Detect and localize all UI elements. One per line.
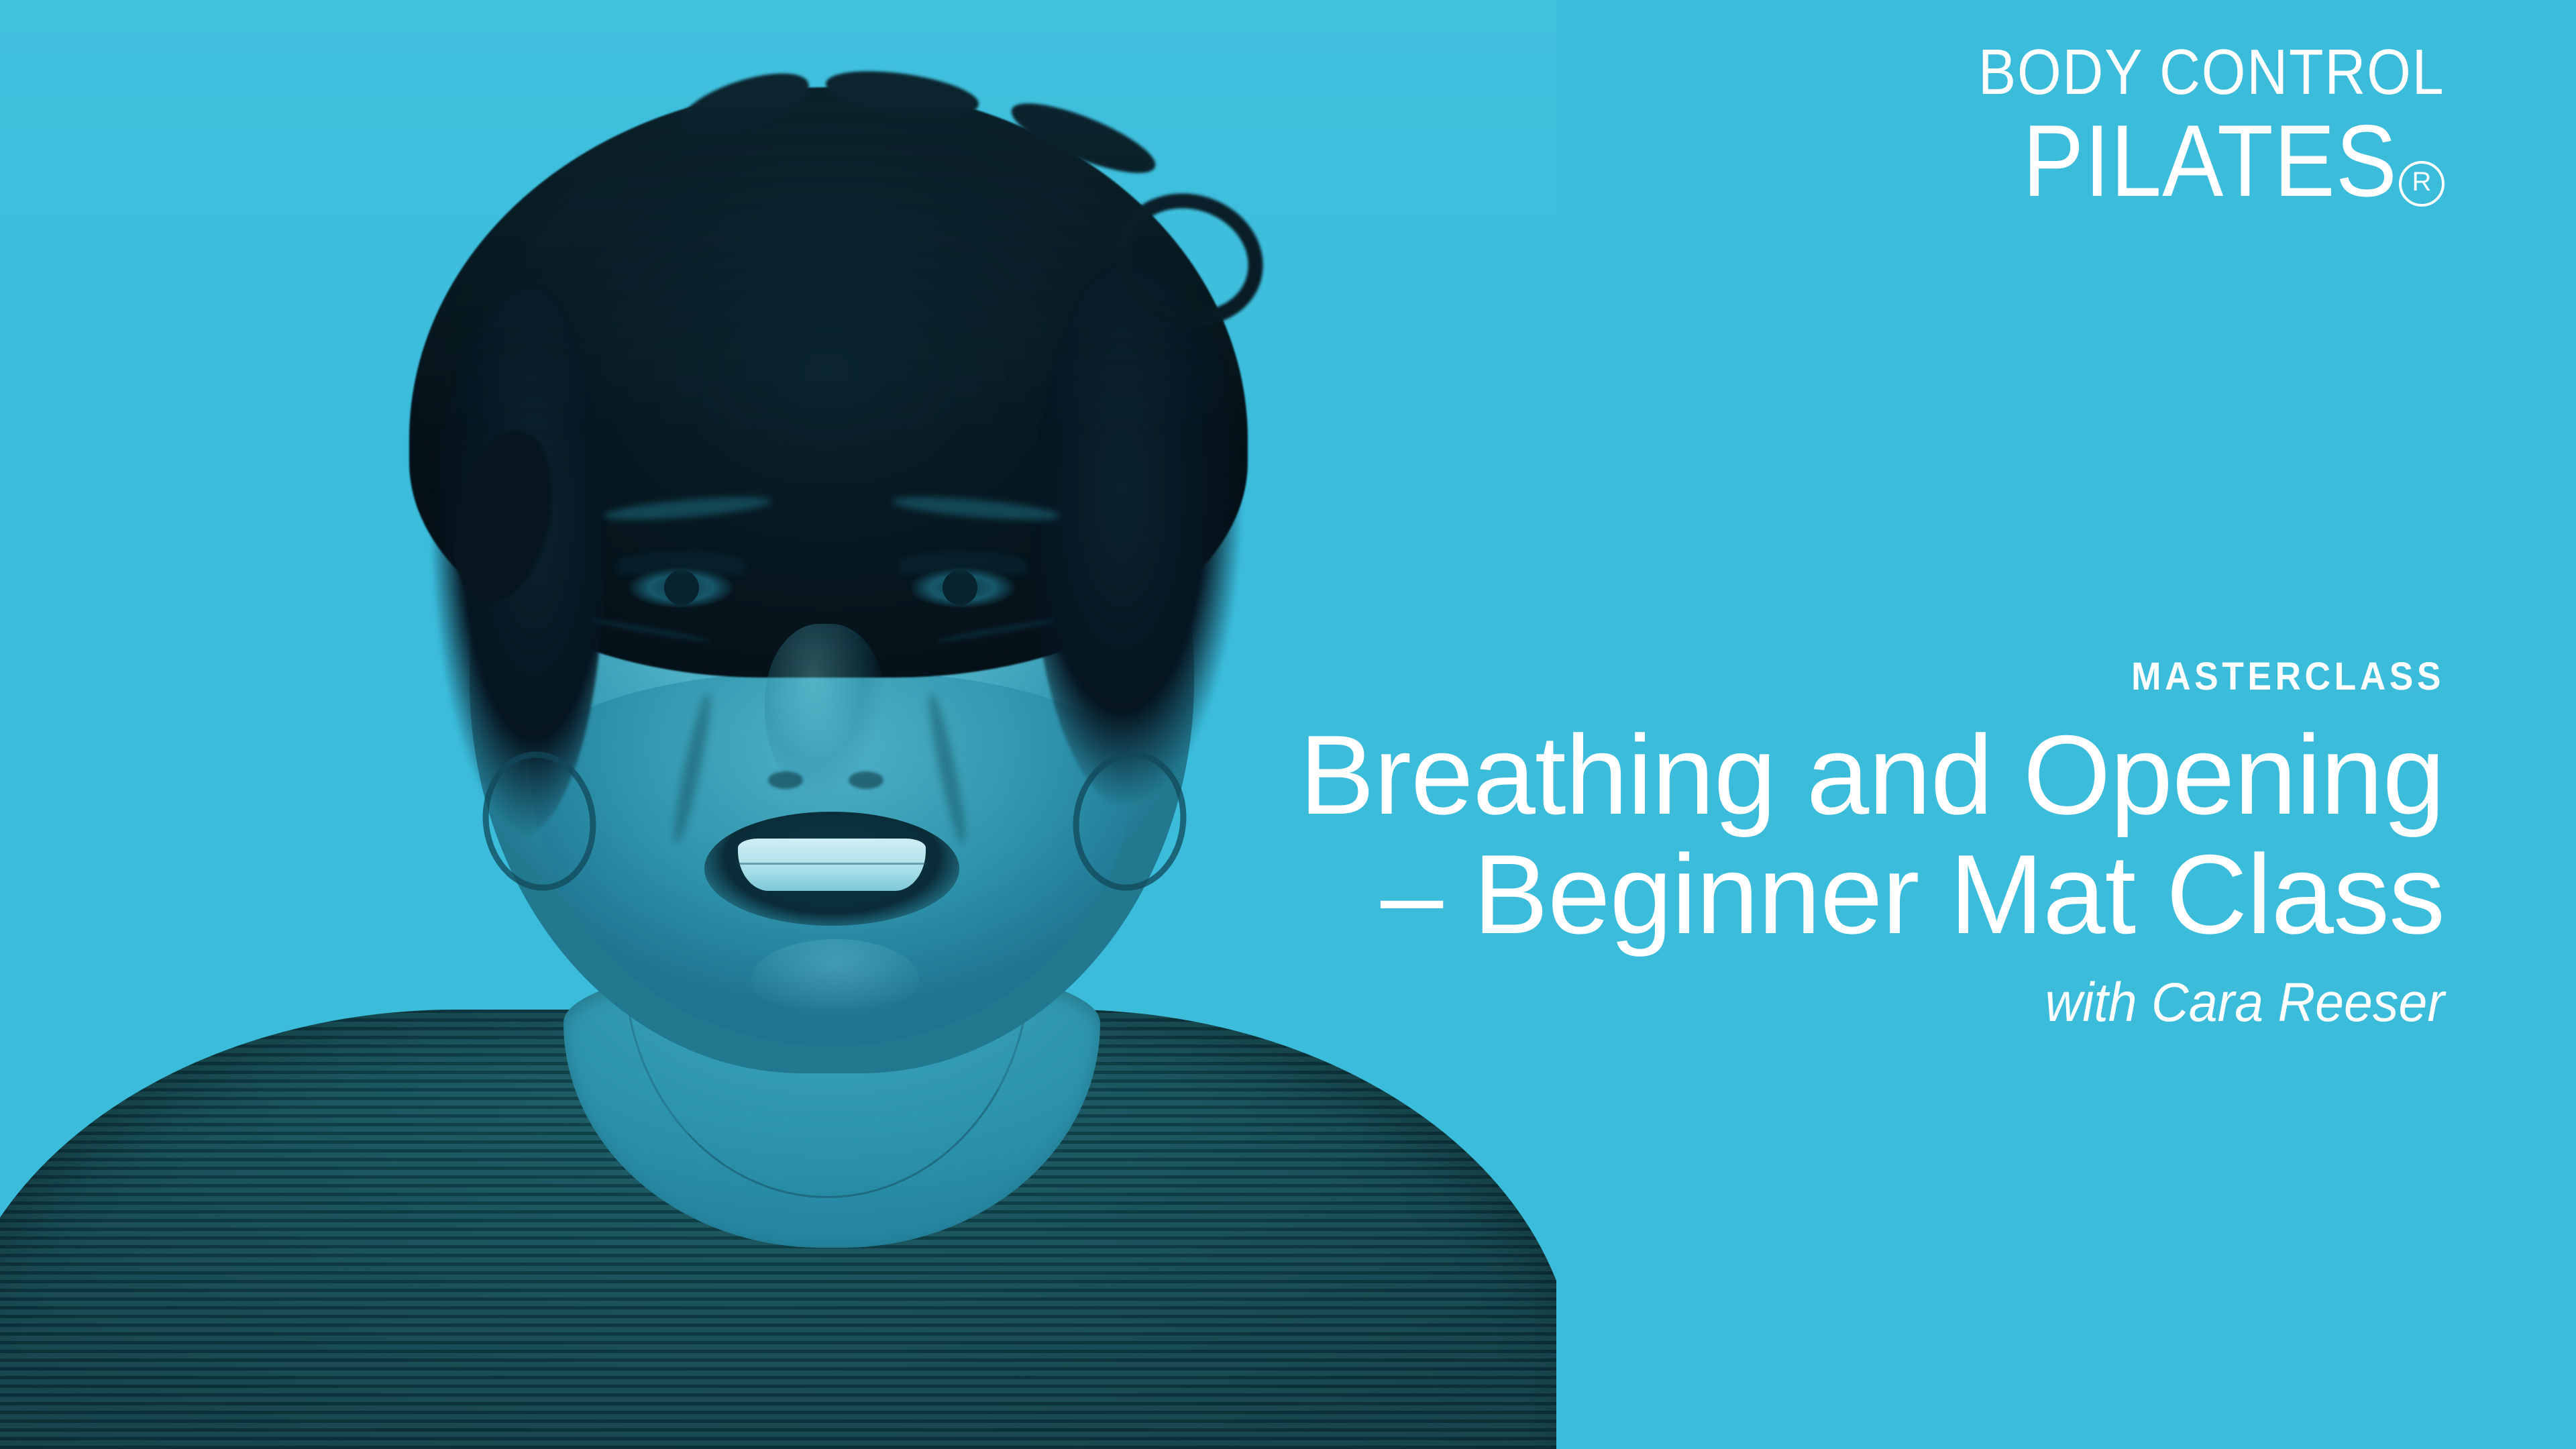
brand-line-pilates: PILATES bbox=[2023, 110, 2398, 212]
masterclass-title-card: BODY CONTROL PILATES R MASTERCLASS Breat… bbox=[0, 0, 2576, 1449]
page-title: Breathing and Opening – Beginner Mat Cla… bbox=[700, 715, 2445, 954]
title-line-2: – Beginner Mat Class bbox=[700, 835, 2445, 954]
presenter-byline: with Cara Reeser bbox=[805, 971, 2445, 1034]
brand-line-body-control: BODY CONTROL bbox=[1978, 40, 2445, 105]
iris-right bbox=[943, 570, 977, 605]
kicker-label: MASTERCLASS bbox=[840, 657, 2445, 696]
registered-trademark-icon: R bbox=[2399, 161, 2445, 207]
title-line-1: Breathing and Opening bbox=[700, 715, 2445, 835]
iris-left bbox=[664, 570, 699, 605]
brand-logo: BODY CONTROL PILATES R bbox=[1915, 40, 2445, 212]
title-text-block: MASTERCLASS Breathing and Opening – Begi… bbox=[700, 657, 2445, 1034]
brand-line-pilates-wrap: PILATES R bbox=[1915, 110, 2445, 212]
eyelid-left bbox=[617, 551, 745, 574]
eyelid-right bbox=[899, 551, 1026, 574]
